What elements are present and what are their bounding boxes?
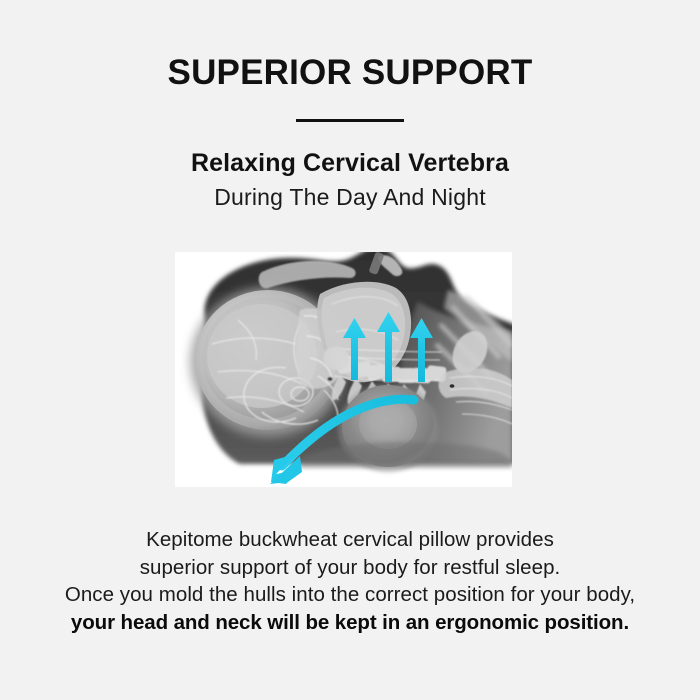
sub-subtitle: During The Day And Night (214, 178, 486, 210)
xray-illustration (0, 232, 700, 512)
body-line-1: Kepitome buckwheat cervical pillow provi… (65, 526, 635, 553)
body-line-3: Once you mold the hulls into the correct… (65, 581, 635, 608)
promo-page: SUPERIOR SUPPORT Relaxing Cervical Verte… (0, 0, 700, 700)
xray-figure (0, 232, 700, 512)
body-line-4: your head and neck will be kept in an er… (65, 609, 635, 636)
support-arrows (343, 312, 433, 382)
subtitle: Relaxing Cervical Vertebra (191, 122, 509, 178)
body-copy: Kepitome buckwheat cervical pillow provi… (65, 512, 635, 636)
body-line-2: superior support of your body for restfu… (65, 554, 635, 581)
page-title: SUPERIOR SUPPORT (168, 0, 533, 90)
